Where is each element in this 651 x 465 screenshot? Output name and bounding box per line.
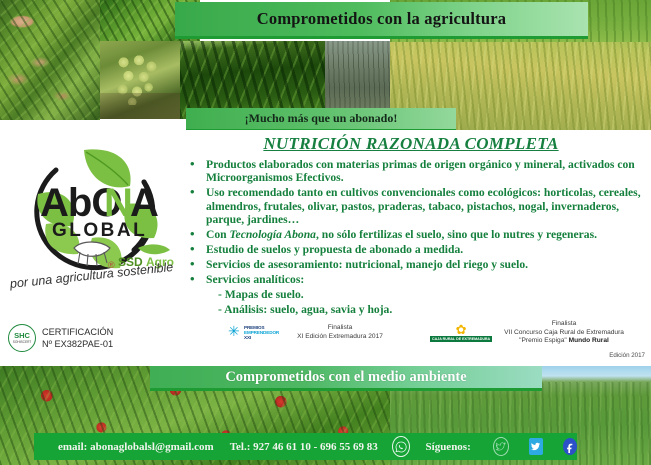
award-line3-bold: Mundo Rural [569, 337, 609, 344]
twitter-square-icon[interactable] [529, 438, 543, 455]
header-banner: Comprometidos con la agricultura [175, 2, 588, 39]
environment-banner: Comprometidos con el medio ambiente [150, 366, 542, 391]
cajarural-award-text: Finalista VII Concurso Caja Rural de Ext… [504, 320, 624, 346]
header-photo-strip: Comprometidos con la agricultura ¡Mucho … [0, 0, 651, 130]
footer-contact-bar: email: abonaglobalsl@gmail.com Tel.: 927… [34, 433, 577, 460]
environment-banner-text: Comprometidos con el medio ambiente [225, 369, 466, 386]
list-item: Productos elaborados con materias primas… [206, 158, 646, 185]
sub-item-label: - Mapas de suelo. [206, 288, 304, 301]
contact-email[interactable]: email: abonaglobalsl@gmail.com [58, 441, 214, 453]
certifications-row: SHC SOHISCERT CERTIFICACIÓN Nº EX382PAE-… [0, 318, 651, 366]
almond-tree-photo [0, 0, 100, 120]
follow-us-label: Síguenos: [426, 441, 471, 453]
tech-italic: Tecnología Abona [230, 228, 316, 241]
list-item: Servicios analíticos: [206, 273, 646, 286]
whatsapp-icon[interactable] [392, 436, 410, 457]
svg-text:N: N [104, 181, 133, 225]
caixabank-star-icon: ✳ [228, 326, 241, 339]
tech-suffix: , no sólo fertilizas el suelo, sino que … [316, 228, 597, 241]
header-subbanner: ¡Mucho más que un abonado! [186, 108, 456, 130]
list-item: Servicios de asesoramiento: nutricional,… [206, 258, 646, 271]
cajarural-flower-icon: ✿ [456, 324, 467, 336]
award-line1: Finalista [504, 320, 624, 329]
header-banner-title: Comprometidos con la agricultura [257, 9, 506, 29]
list-item: Estudio de suelos y propuesta de abonado… [206, 243, 646, 256]
sub-list-item: - Análisis: suelo, agua, savia y hoja. [206, 303, 646, 316]
twitter-outline-icon[interactable] [493, 437, 509, 456]
award-line2: XI Edición Extremadura 2017 [297, 333, 383, 342]
contact-phone[interactable]: Tel.: 927 46 61 10 - 696 55 69 83 [230, 441, 378, 453]
features-list: Productos elaborados con materias primas… [176, 158, 646, 316]
award-line3-prefix: "Premio Espiga" [519, 337, 568, 344]
list-item: Uso recomendado tanto en cultivos conven… [206, 186, 646, 226]
section-title: NUTRICIÓN RAZONADA COMPLETA [176, 134, 646, 154]
sohiscert-seal-icon: SHC SOHISCERT [8, 324, 36, 352]
list-item-technology: Con Tecnología Abona, no sólo fertilizas… [206, 228, 646, 241]
certification-text: CERTIFICACIÓN Nº EX382PAE-01 [42, 326, 113, 350]
sub-list-item: - Mapas de suelo. [206, 288, 646, 301]
caixabank-logo-icon: ✳ PREMIOS EMPRENDEDOR XXI [228, 325, 279, 341]
tech-prefix: Con [206, 228, 230, 241]
nutrition-section: NUTRICIÓN RAZONADA COMPLETA Productos el… [176, 134, 646, 317]
caixabank-award-text: Finalista XI Edición Extremadura 2017 [297, 324, 383, 341]
award-line3: "Premio Espiga" Mundo Rural [504, 337, 624, 346]
award-caixabank: ✳ PREMIOS EMPRENDEDOR XXI Finalista XI E… [228, 324, 383, 341]
caixabank-line3: XXI [244, 335, 279, 340]
facebook-icon[interactable] [563, 438, 577, 455]
award-cajarural: ✿ CAJA RURAL DE EXTREMADURA Finalista VI… [430, 320, 624, 346]
award-line1: Finalista [297, 324, 383, 333]
certification-line1: CERTIFICACIÓN [42, 326, 113, 338]
cajarural-logo-icon: ✿ CAJA RURAL DE EXTREMADURA [430, 324, 492, 342]
grapes-photo [100, 41, 180, 119]
svg-text:GLOBAL: GLOBAL [52, 220, 147, 241]
sohiscert-abbr: SHC [14, 332, 30, 340]
certification-sohiscert: SHC SOHISCERT CERTIFICACIÓN Nº EX382PAE-… [8, 324, 113, 352]
brand-logo: AbO N A GLOBAL ® SSD Agro por una agricu… [8, 142, 194, 327]
certification-line2: Nº EX382PAE-01 [42, 338, 113, 350]
header-banner-subtitle: ¡Mucho más que un abonado! [245, 111, 398, 126]
award-line2: VII Concurso Caja Rural de Extremadura [504, 329, 624, 338]
cajarural-wordmark: CAJA RURAL DE EXTREMADURA [430, 336, 492, 342]
sub-item-label: - Análisis: suelo, agua, savia y hoja. [206, 303, 392, 316]
svg-text:A: A [130, 181, 159, 225]
caixabank-wordmark: PREMIOS EMPRENDEDOR XXI [244, 325, 279, 341]
sohiscert-sub: SOHISCERT [13, 341, 32, 344]
cajarural-edicion: Edición 2017 [609, 352, 645, 359]
